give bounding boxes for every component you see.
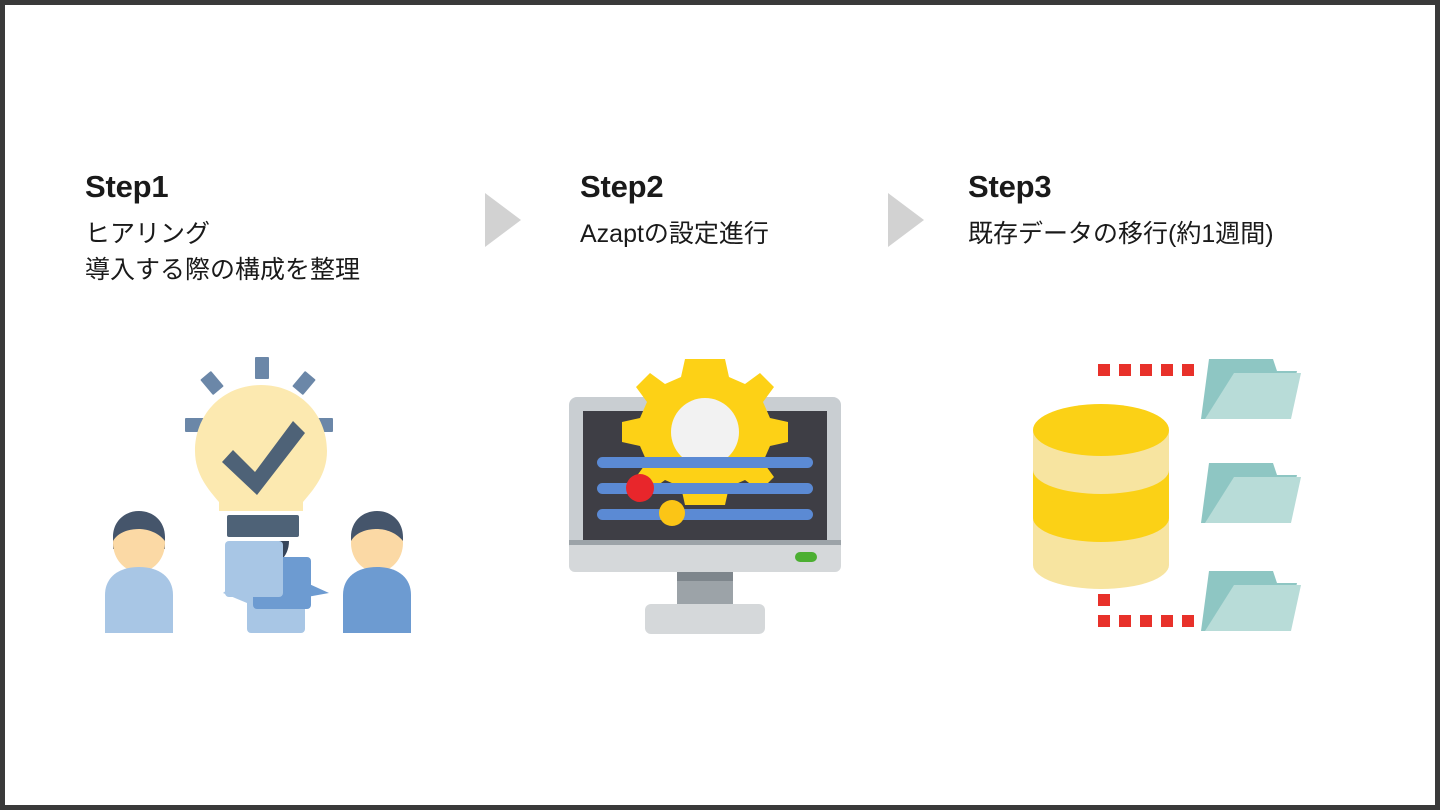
person-left-icon — [105, 511, 173, 633]
bulb-base-icon — [227, 515, 299, 537]
illustration-step1 — [105, 345, 425, 650]
step-title-1: Step1 — [85, 170, 360, 204]
step-title-2: Step2 — [580, 170, 769, 204]
monitor-power-led-icon — [795, 552, 817, 562]
monitor-gear-settings-icon — [555, 345, 855, 645]
slider-track-1 — [597, 457, 813, 468]
monitor-base-icon — [645, 604, 765, 634]
step-description-2: Azaptの設定進行 — [580, 216, 769, 252]
bulb-glass-icon — [195, 385, 327, 511]
illustration-step3 — [1005, 345, 1335, 650]
slide-canvas: Step1 ヒアリング 導入する際の構成を整理 Step2 Azaptの設定進行… — [5, 5, 1435, 805]
lightbulb-check-people-icon — [105, 345, 425, 645]
database-folders-migration-icon — [1005, 345, 1335, 645]
database-cylinder-icon — [1033, 404, 1169, 589]
slider-knob-yellow — [659, 500, 685, 526]
folder-icon-2 — [1201, 463, 1301, 523]
arrow-step1-to-step2 — [483, 191, 523, 249]
step-block-1: Step1 ヒアリング 導入する際の構成を整理 — [85, 170, 360, 289]
triangle-right-icon — [483, 191, 523, 249]
speech-bubbles-icon — [223, 541, 329, 633]
step-description-1: ヒアリング 導入する際の構成を整理 — [85, 216, 360, 289]
slider-group-icon — [597, 457, 813, 526]
arrow-step2-to-step3 — [886, 191, 926, 249]
slider-track-3 — [597, 509, 813, 520]
triangle-right-icon — [886, 191, 926, 249]
folder-icon-3 — [1201, 571, 1301, 631]
dashed-line-bottom-icon — [1098, 594, 1194, 627]
gear-hub-icon — [671, 398, 739, 466]
slider-knob-red — [626, 474, 654, 502]
step-title-3: Step3 — [968, 170, 1274, 204]
step-block-3: Step3 既存データの移行(約1週間) — [968, 170, 1274, 252]
person-right-icon — [343, 511, 411, 633]
step-block-2: Step2 Azaptの設定進行 — [580, 170, 769, 252]
illustration-step2 — [555, 345, 855, 650]
step-description-3: 既存データの移行(約1週間) — [968, 216, 1274, 252]
folder-icon-1 — [1201, 359, 1301, 419]
dashed-line-top-icon — [1098, 364, 1194, 376]
